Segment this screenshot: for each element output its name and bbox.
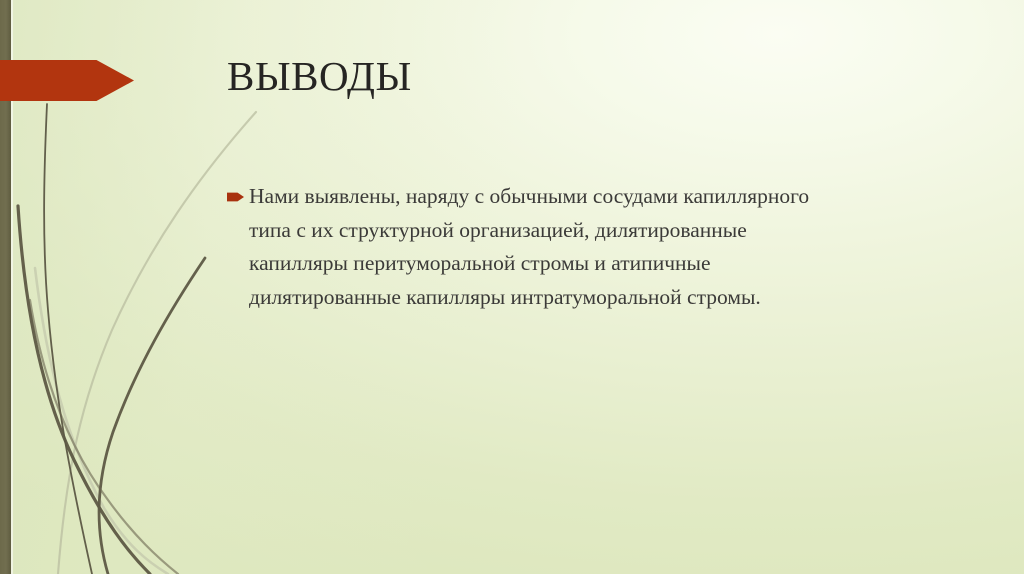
- bullet-paragraph: Нами выявлены, наряду с обычными сосудам…: [249, 180, 947, 314]
- slide-body: Нами выявлены, наряду с обычными сосудам…: [227, 180, 947, 314]
- bullet-line: дилятированные капилляры интратуморально…: [249, 281, 947, 315]
- slide-canvas: ВЫВОДЫ Нами выявлены, наряду с обычными …: [0, 0, 1024, 574]
- list-item: Нами выявлены, наряду с обычными сосудам…: [227, 180, 947, 314]
- bullet-line: Нами выявлены, наряду с обычными сосудам…: [249, 180, 947, 214]
- bullet-line: капилляры перитуморальной стромы и атипи…: [249, 247, 947, 281]
- bullet-line: типа с их структурной организацией, диля…: [249, 214, 947, 248]
- pennant-bullet-icon: [227, 191, 244, 203]
- slide-title: ВЫВОДЫ: [227, 52, 412, 100]
